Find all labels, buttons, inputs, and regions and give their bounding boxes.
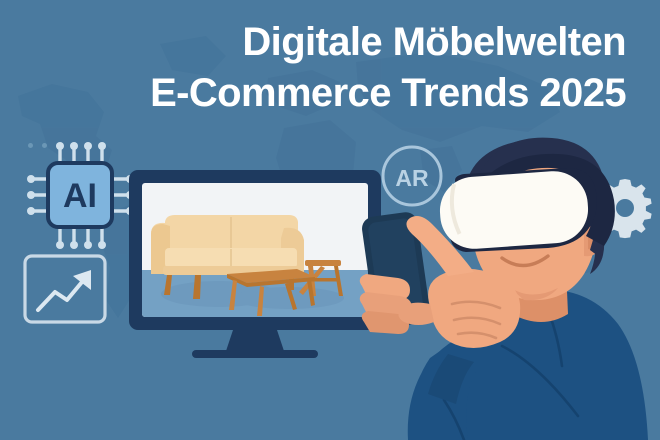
page-title: Digitale Möbelwelten E-Commerce Trends 2… xyxy=(0,22,626,113)
title-line-1: Digitale Möbelwelten xyxy=(0,22,626,62)
trending-up-icon xyxy=(21,252,109,326)
desktop-monitor xyxy=(129,170,381,365)
hand-holding-phone xyxy=(360,274,412,334)
person-wearing-vr-headset xyxy=(352,118,660,440)
ai-chip-icon: AI xyxy=(24,139,136,251)
ai-chip-label: AI xyxy=(63,177,97,215)
poster-canvas: Digitale Möbelwelten E-Commerce Trends 2… xyxy=(0,0,660,440)
headset-front-panel xyxy=(438,169,591,251)
title-line-2: E-Commerce Trends 2025 xyxy=(0,73,626,113)
monitor-stand-base xyxy=(192,350,318,358)
